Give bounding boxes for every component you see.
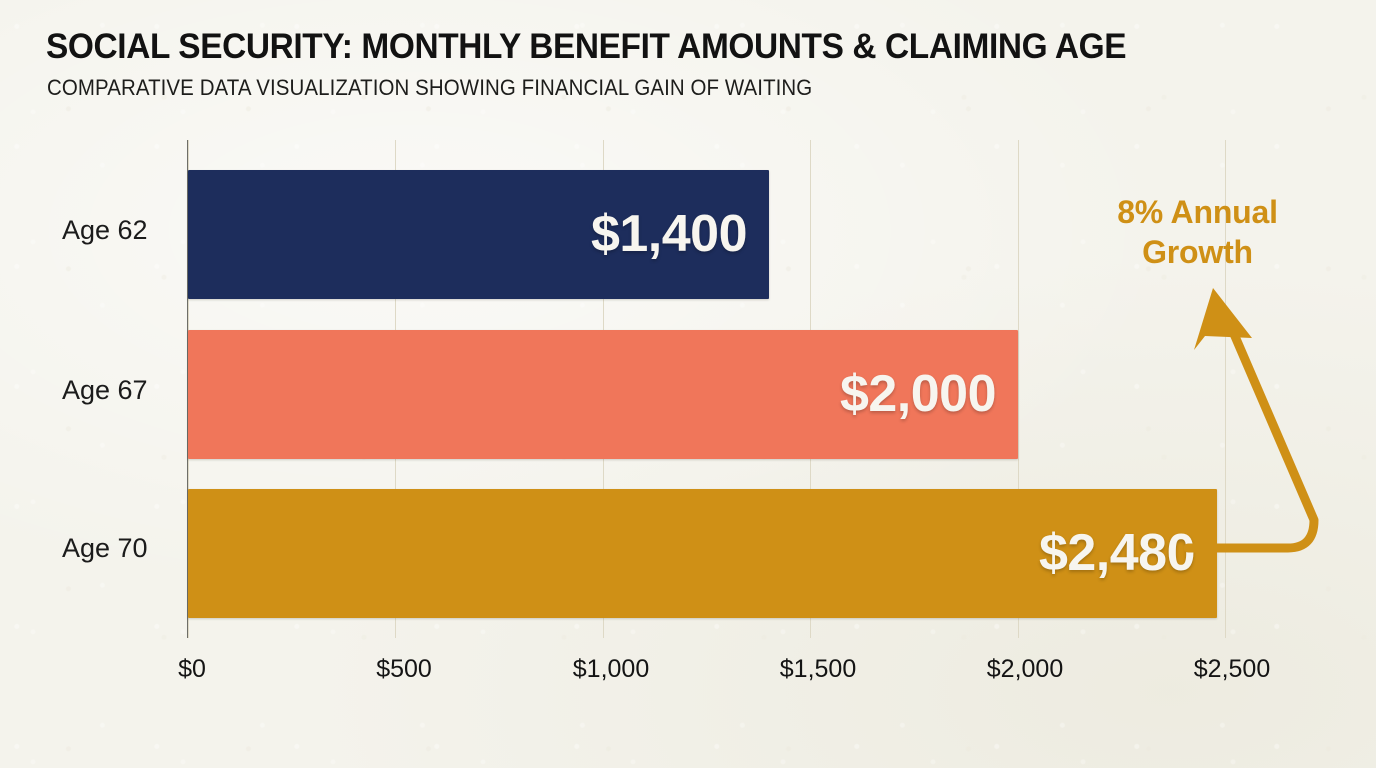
curved-arrow-icon bbox=[1180, 280, 1370, 580]
xtick-label-1500: $1,500 bbox=[780, 655, 856, 684]
page-subtitle: COMPARATIVE DATA VISUALIZATION SHOWING F… bbox=[47, 75, 812, 101]
growth-annotation-line-1: 8% Annual bbox=[1117, 194, 1278, 230]
category-label-age-62: Age 62 bbox=[62, 215, 174, 246]
xtick-label-2000: $2,000 bbox=[987, 655, 1063, 684]
growth-annotation: 8% Annual Growth bbox=[1075, 192, 1320, 272]
xtick-label-2500: $2,500 bbox=[1194, 655, 1270, 684]
bar-value-age-67: $2,000 bbox=[840, 363, 996, 423]
bar-age-67[interactable]: $2,000 bbox=[188, 330, 1018, 459]
category-label-age-67: Age 67 bbox=[62, 375, 174, 406]
bar-age-70[interactable]: $2,480 bbox=[188, 489, 1217, 618]
xtick-label-0: $0 bbox=[178, 655, 206, 684]
growth-annotation-line-2: Growth bbox=[1142, 234, 1253, 270]
chart-canvas: SOCIAL SECURITY: MONTHLY BENEFIT AMOUNTS… bbox=[0, 0, 1376, 768]
bar-age-62[interactable]: $1,400 bbox=[188, 170, 769, 299]
bar-value-age-62: $1,400 bbox=[591, 203, 747, 263]
plot-area: $1,400 $2,000 $2,480 bbox=[188, 140, 1225, 638]
bar-value-age-70: $2,480 bbox=[1039, 522, 1195, 582]
page-title: SOCIAL SECURITY: MONTHLY BENEFIT AMOUNTS… bbox=[46, 27, 1126, 67]
xtick-label-500: $500 bbox=[376, 655, 432, 684]
category-label-age-70: Age 70 bbox=[62, 533, 174, 564]
xtick-label-1000: $1,000 bbox=[573, 655, 649, 684]
